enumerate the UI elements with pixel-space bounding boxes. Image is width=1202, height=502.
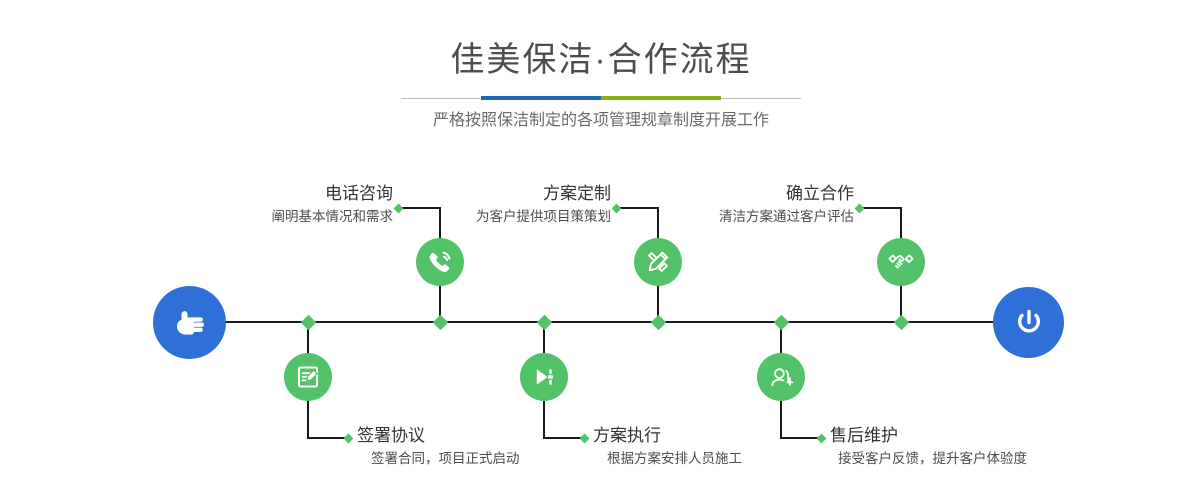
pencil-ruler-icon [644, 248, 672, 276]
step-icon-node [520, 353, 568, 401]
divider-green-segment [601, 96, 721, 100]
step-title: 方案定制 [351, 182, 611, 206]
step-label: 售后维护 接受客户反馈，提升客户体验度 [830, 424, 1110, 470]
page-title: 佳美保洁·合作流程 [0, 38, 1202, 82]
step-label: 签署协议 签署合同，项目正式启动 [357, 424, 617, 470]
step-desc: 为客户提供项目策策划 [351, 206, 611, 228]
headset-support-icon [767, 363, 795, 391]
step-icon-node [877, 238, 925, 286]
timeline-start-node [153, 286, 226, 359]
step-title: 方案执行 [593, 424, 853, 448]
process-timeline: 电话咨询 阐明基本情况和需求 签署协议 签署合同，项目正式启动 [0, 150, 1202, 502]
axis-marker [536, 314, 552, 330]
step-label: 方案执行 根据方案安排人员施工 [593, 424, 853, 470]
step-icon-node [416, 238, 464, 286]
step-icon-node [284, 353, 332, 401]
connector-horizontal [859, 207, 901, 209]
divider-blue-segment [481, 96, 601, 100]
step-icon-node [634, 238, 682, 286]
power-icon [1010, 304, 1048, 342]
document-sign-icon [294, 363, 322, 391]
page-header: 佳美保洁·合作流程 严格按照保洁制定的各项管理规章制度开展工作 [0, 0, 1202, 150]
step-label: 确立合作 清洁方案通过客户评估 [594, 182, 854, 228]
step-title: 售后维护 [830, 424, 1110, 448]
step-title: 确立合作 [594, 182, 854, 206]
step-desc: 接受客户反馈，提升客户体验度 [830, 448, 1110, 470]
axis-marker [893, 314, 909, 330]
axis-marker [773, 314, 789, 330]
step-icon-node [757, 353, 805, 401]
handshake-icon [886, 247, 916, 277]
pointing-hand-icon [170, 303, 210, 343]
axis-marker [300, 314, 316, 330]
title-divider [401, 96, 801, 100]
axis-marker [432, 314, 448, 330]
page-subtitle: 严格按照保洁制定的各项管理规章制度开展工作 [0, 108, 1202, 134]
label-marker [855, 203, 865, 213]
axis-marker [650, 314, 666, 330]
timeline-end-node [993, 287, 1064, 358]
play-execute-icon [530, 363, 558, 391]
phone-call-icon [425, 247, 455, 277]
step-desc: 签署合同，项目正式启动 [357, 448, 617, 470]
step-title: 签署协议 [357, 424, 617, 448]
step-desc: 清洁方案通过客户评估 [594, 206, 854, 228]
label-marker [344, 433, 354, 443]
step-desc: 根据方案安排人员施工 [593, 448, 853, 470]
step-label: 方案定制 为客户提供项目策策划 [351, 182, 611, 228]
